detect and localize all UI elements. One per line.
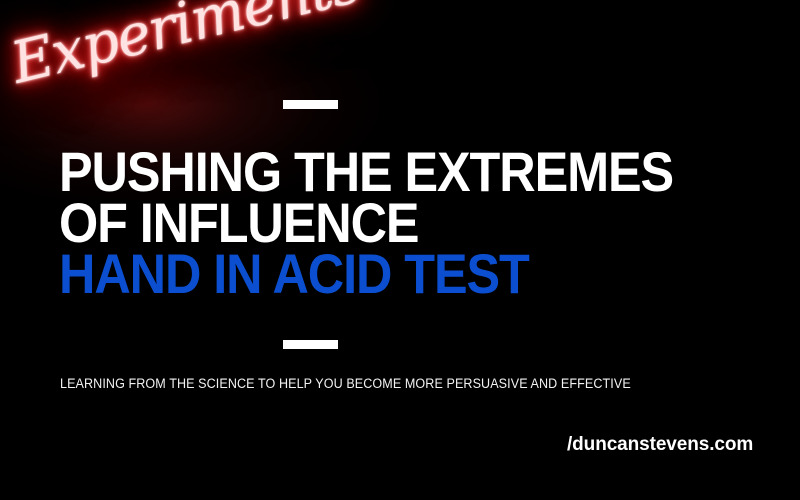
divider-bottom (283, 340, 338, 349)
eyebrow-neon-script: Experiments (6, 0, 302, 135)
headline-line-2: OF INFLUENCE (59, 197, 689, 248)
eyebrow-label: Experiments (6, 0, 292, 93)
divider-top (283, 100, 338, 109)
title-slide: Experiments PUSHING THE EXTREMES OF INFL… (0, 0, 800, 500)
website-url: /duncanstevens.com (567, 434, 753, 456)
headline-line-1: PUSHING THE EXTREMES (59, 146, 689, 197)
headline-line-3-accent: HAND IN ACID TEST (59, 248, 689, 299)
subtitle-text: LEARNING FROM THE SCIENCE TO HELP YOU BE… (60, 376, 631, 392)
headline-block: PUSHING THE EXTREMES OF INFLUENCE HAND I… (59, 146, 759, 299)
